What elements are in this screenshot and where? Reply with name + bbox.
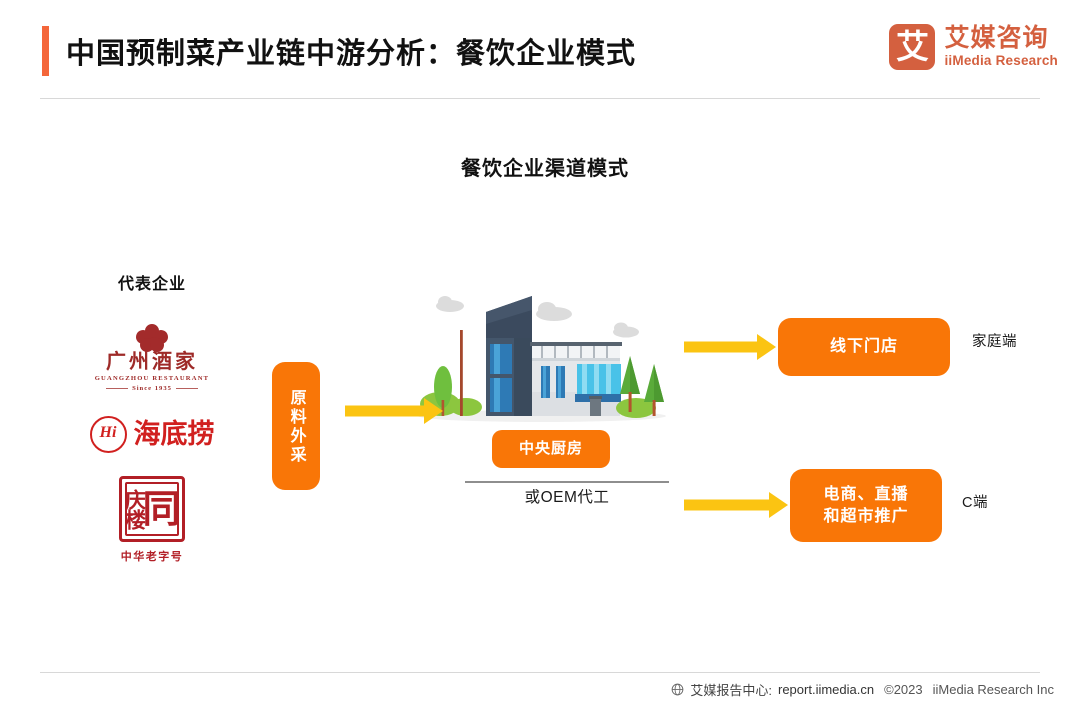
title-accent-bar — [42, 26, 49, 76]
header-divider — [40, 98, 1040, 99]
company-caption: 中华老字号 — [121, 548, 184, 564]
company-logo-guangzhou-restaurant: 广州酒家 GUANGZHOU RESTAURANT Since 1935 — [72, 322, 232, 394]
arrow-raw-to-kitchen-icon — [345, 397, 443, 425]
company-name-col: 庆楼 — [125, 489, 143, 529]
footer-url[interactable]: report.iimedia.cn — [778, 682, 874, 697]
globe-icon — [671, 683, 684, 696]
oem-label: 或OEM代工 — [465, 485, 669, 507]
page-footer: 艾媒报告中心: report.iimedia.cn ©2023 iiMedia … — [671, 680, 1054, 699]
company-since: Since 1935 — [106, 385, 198, 392]
page-title: 中国预制菜产业链中游分析：餐饮企业模式 — [66, 30, 636, 72]
company-name-cn: 广州酒家 — [106, 351, 198, 371]
footer-copyright: ©2023 — [884, 682, 923, 697]
haidilao-mark-text: Hi — [92, 425, 125, 441]
label-family-end: 家庭端 — [972, 330, 1017, 351]
arrow-kitchen-to-offline-icon — [684, 333, 776, 361]
footer-divider — [40, 672, 1040, 673]
company-name-cn: 海底捞 — [134, 421, 215, 448]
company-logo-haidilao: Hi 海底捞 — [72, 406, 232, 462]
brand-name-cn: 艾媒咨询 — [944, 26, 1058, 51]
flower-icon — [135, 324, 169, 350]
brand-mark-glyph: 艾 — [889, 30, 935, 63]
node-offline-store[interactable]: 线下门店 — [778, 318, 950, 376]
company-name-en: GUANGZHOU RESTAURANT — [95, 375, 210, 382]
arrow-kitchen-to-online-icon — [684, 491, 788, 519]
footer-report-center: 艾媒报告中心: — [690, 680, 772, 699]
page-header: 中国预制菜产业链中游分析：餐饮企业模式 艾 艾媒咨询 iiMedia Resea… — [0, 0, 1080, 100]
company-logo-tongqinglou: 庆楼 同 中华老字号 — [72, 476, 232, 564]
seal-inner: 庆楼 同 — [125, 482, 179, 536]
node-online-promotion[interactable]: 电商、直播 和超市推广 — [790, 469, 942, 542]
seal-icon: 庆楼 同 — [119, 476, 185, 542]
haidilao-ring-icon: Hi — [90, 416, 127, 453]
brand-logo: 艾 艾媒咨询 iiMedia Research — [889, 24, 1058, 70]
iimedia-mark-icon: 艾 — [889, 24, 935, 70]
label-consumer-end: C端 — [962, 491, 988, 512]
brand-name-en: iiMedia Research — [944, 54, 1058, 68]
oem-divider — [465, 481, 669, 483]
diagram-subtitle: 餐饮企业渠道模式 — [0, 152, 1080, 181]
node-raw-material[interactable]: 原料外采 — [272, 362, 320, 490]
node-central-kitchen[interactable]: 中央厨房 — [492, 430, 610, 468]
representative-companies-label: 代表企业 — [72, 270, 232, 294]
company-logo-stack: 广州酒家 GUANGZHOU RESTAURANT Since 1935 Hi … — [72, 322, 232, 564]
company-since-text: Since 1935 — [132, 385, 172, 392]
central-kitchen-illustration — [414, 282, 670, 430]
company-name-big: 同 — [142, 490, 179, 528]
footer-company: iiMedia Research Inc — [933, 682, 1054, 697]
brand-text: 艾媒咨询 iiMedia Research — [944, 26, 1058, 68]
